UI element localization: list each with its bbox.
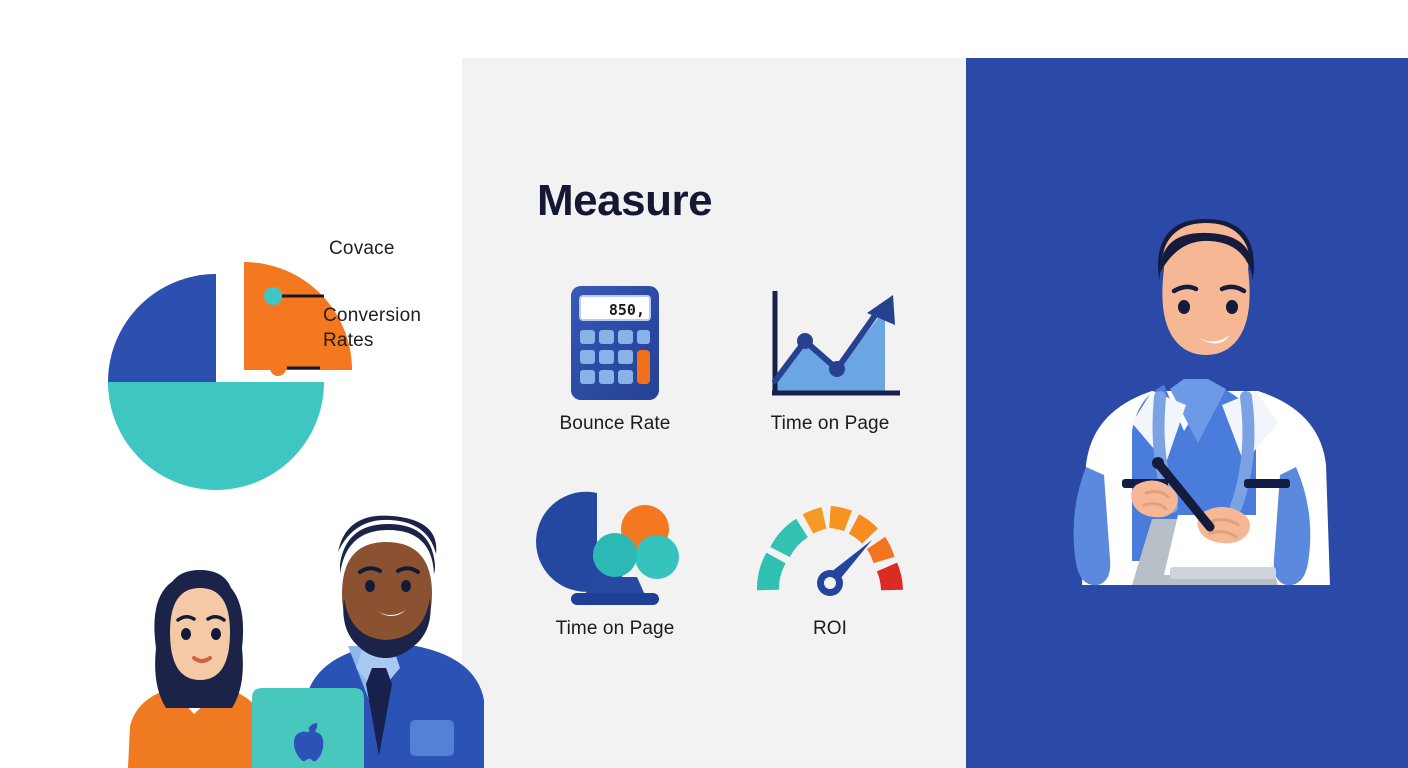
metric-bounce-rate[interactable]: 850, Bounce Rat	[510, 280, 720, 435]
pie-slice-blue	[108, 274, 216, 382]
metric-label: ROI	[725, 618, 935, 640]
metric-time-on-page-bottom[interactable]: Time on Page	[510, 485, 720, 640]
page-title: Measure	[537, 176, 712, 226]
slide-canvas: Covace Conversion Rates Measure	[0, 0, 1408, 768]
people-illustration	[110, 498, 510, 768]
calculator-display-value: 850,	[609, 301, 645, 319]
pie-chart: Covace Conversion Rates	[68, 250, 468, 500]
metric-label: Bounce Rate	[510, 413, 720, 435]
pie-label-conversion-rates: Conversion Rates	[323, 303, 421, 353]
pie-label-conversion-rates-line1: Conversion	[323, 303, 421, 328]
calculator-icon: 850,	[510, 280, 720, 405]
metric-time-on-page-top[interactable]: Time on Page	[725, 280, 935, 435]
metric-label: Time on Page	[510, 618, 720, 640]
line-chart-icon	[725, 280, 935, 405]
pie-analysis-icon	[510, 485, 720, 610]
callout-dot-conversion-rates	[270, 360, 286, 376]
woman-figure	[128, 570, 266, 768]
analyst-illustration	[1060, 215, 1350, 585]
metric-grid: 850, Bounce Rat	[500, 280, 940, 680]
metric-label: Time on Page	[725, 413, 935, 435]
gauge-icon	[725, 485, 935, 610]
laptop	[252, 688, 364, 768]
pie-label-covace: Covace	[329, 236, 395, 261]
callout-dot-covace	[264, 287, 282, 305]
pie-label-conversion-rates-line2: Rates	[323, 328, 421, 353]
pie-chart-svg	[68, 250, 468, 500]
metric-roi[interactable]: ROI	[725, 485, 935, 640]
